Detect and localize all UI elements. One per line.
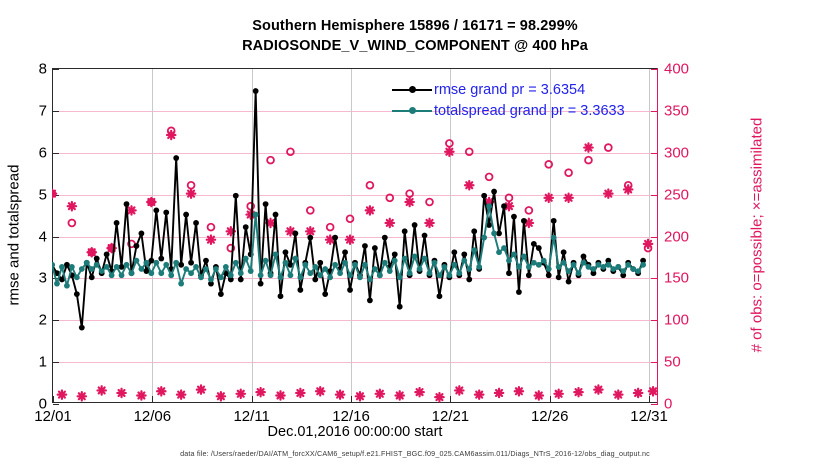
series-marker [79, 266, 85, 272]
series-marker [114, 220, 120, 226]
series-marker [625, 262, 631, 268]
series-marker [466, 266, 472, 272]
obs-marker-assimilated [465, 181, 473, 189]
series-marker [258, 272, 264, 278]
series-marker [273, 251, 279, 257]
series-marker [188, 270, 194, 276]
series-marker [188, 260, 194, 266]
series-marker [516, 289, 522, 295]
obs-marker-assimilated [117, 389, 125, 397]
series-marker [491, 189, 497, 195]
series-marker [531, 260, 537, 266]
obs-marker-assimilated [78, 392, 86, 400]
series-marker [342, 249, 348, 255]
series-marker [253, 212, 259, 218]
series-marker [422, 256, 428, 262]
series-marker [551, 218, 557, 224]
obs-marker-possible [208, 224, 215, 231]
series-marker [461, 258, 467, 264]
obs-marker-assimilated [217, 392, 225, 400]
obs-marker-assimilated [554, 390, 562, 398]
series-marker [288, 272, 294, 278]
series-marker [615, 264, 621, 270]
series-marker [446, 272, 452, 278]
series-marker [153, 260, 159, 266]
obs-marker-assimilated [435, 393, 443, 401]
obs-marker-possible [585, 157, 592, 164]
series-marker [347, 287, 353, 293]
obs-marker-assimilated [346, 235, 354, 243]
series-line [52, 91, 643, 328]
series-marker [352, 262, 358, 268]
series-marker [556, 274, 562, 280]
obs-marker-assimilated [574, 388, 582, 396]
obs-marker-assimilated [495, 389, 503, 397]
obs-marker-assimilated [366, 206, 374, 214]
series-marker [134, 258, 140, 264]
obs-marker-assimilated [356, 392, 364, 400]
series-marker [312, 277, 318, 283]
obs-marker-assimilated [584, 143, 592, 151]
series-marker [501, 245, 507, 251]
series-marker [283, 260, 289, 266]
series-marker [402, 256, 408, 262]
series-marker [387, 268, 393, 274]
series-marker [362, 243, 368, 249]
series-marker [640, 262, 646, 268]
series-marker [372, 266, 378, 272]
series-marker [551, 235, 557, 241]
obs-marker-possible [406, 190, 413, 197]
series-marker [278, 274, 284, 280]
series-marker [561, 260, 567, 266]
series-marker [516, 264, 522, 270]
obs-marker-assimilated [237, 390, 245, 398]
series-marker [322, 291, 328, 297]
series-marker [243, 224, 249, 230]
series-marker [218, 274, 224, 280]
series-marker [178, 262, 184, 268]
series-marker [99, 268, 105, 274]
series-marker [392, 258, 398, 264]
series-marker [283, 249, 289, 255]
series-marker [451, 262, 457, 268]
series-marker [139, 231, 145, 237]
series-marker [268, 272, 274, 278]
series-marker [357, 274, 363, 280]
obs-marker-possible [188, 182, 195, 189]
series-marker [143, 260, 149, 266]
series-marker [377, 272, 383, 278]
series-marker [407, 270, 413, 276]
series-marker [312, 264, 318, 270]
series-marker [531, 241, 537, 247]
series-marker [243, 256, 249, 262]
series-marker [124, 201, 130, 207]
series-marker [54, 281, 60, 287]
series-marker [486, 203, 492, 209]
series-marker [506, 258, 512, 264]
series-marker [49, 262, 55, 268]
series-marker [456, 270, 462, 276]
series-marker [193, 264, 199, 270]
obs-marker-possible [386, 194, 393, 201]
obs-marker-assimilated [405, 198, 413, 206]
obs-marker-assimilated [564, 194, 572, 202]
obs-marker-possible [307, 207, 314, 214]
obs-marker-assimilated [187, 189, 195, 197]
series-group [48, 88, 657, 401]
obs-marker-possible [545, 161, 552, 168]
series-marker [292, 256, 298, 262]
series-marker [561, 249, 567, 255]
legend-item-rmse[interactable]: rmse grand pr = 3.6354 [392, 79, 625, 100]
series-marker [556, 264, 562, 270]
y-axis-left-title: rmse and totalspread [6, 165, 23, 306]
series-marker [422, 233, 428, 239]
series-marker [218, 291, 224, 297]
obs-marker-possible [506, 194, 513, 201]
series-marker [173, 155, 179, 161]
obs-marker-assimilated [634, 389, 642, 397]
series-marker [367, 277, 373, 283]
series-marker [233, 193, 239, 199]
obs-marker-assimilated [276, 391, 284, 399]
series-marker [481, 235, 487, 241]
series-marker [392, 251, 398, 257]
series-marker [521, 218, 527, 224]
series-marker [536, 262, 542, 268]
obs-marker-assimilated [177, 390, 185, 398]
obs-marker-possible [267, 157, 274, 164]
series-marker [620, 268, 626, 274]
series-marker [302, 262, 308, 268]
series-marker [223, 264, 229, 270]
obs-marker-assimilated [48, 189, 56, 197]
obs-marker-assimilated [127, 206, 135, 214]
series-marker [481, 193, 487, 199]
obs-marker-possible [525, 207, 532, 214]
series-marker [362, 262, 368, 268]
y-axis-right-title: # of obs: o=possible; ×=assimilated [749, 118, 766, 353]
series-marker [402, 228, 408, 234]
series-marker [59, 264, 65, 270]
series-marker [208, 277, 214, 283]
series-marker [253, 88, 259, 94]
series-marker [576, 270, 582, 276]
series-marker [427, 270, 433, 276]
series-marker [432, 260, 438, 266]
figure-canvas: Southern Hemisphere 15896 / 16171 = 98.2… [0, 0, 830, 470]
series-marker [168, 272, 174, 278]
obs-marker-possible [466, 148, 473, 155]
series-marker [327, 274, 333, 280]
series-marker [501, 203, 507, 209]
series-marker [437, 272, 443, 278]
series-marker [397, 304, 403, 310]
chart-legend: rmse grand pr = 3.6354 totalspread grand… [388, 77, 629, 124]
series-marker [307, 270, 313, 276]
series-marker [292, 231, 298, 237]
series-marker [228, 272, 234, 278]
series-marker [571, 262, 577, 268]
legend-item-totalspread[interactable]: totalspread grand pr = 3.3633 [392, 100, 625, 121]
series-marker [581, 254, 587, 260]
series-marker [163, 262, 169, 268]
series-marker [193, 220, 199, 226]
series-marker [566, 279, 572, 285]
obs-marker-assimilated [515, 387, 523, 395]
obs-marker-assimilated [197, 385, 205, 393]
series-marker [566, 268, 572, 274]
obs-marker-assimilated [147, 198, 155, 206]
series-marker [586, 264, 592, 270]
series-marker [263, 201, 269, 207]
series-marker [541, 258, 547, 264]
series-marker [630, 266, 636, 272]
obs-marker-assimilated [649, 387, 657, 395]
series-marker [476, 264, 482, 270]
series-marker [148, 270, 154, 276]
series-marker [178, 281, 184, 287]
obs-marker-assimilated [306, 227, 314, 235]
series-marker [437, 293, 443, 299]
obs-marker-assimilated [445, 148, 453, 156]
series-marker [322, 266, 328, 272]
series-marker [546, 272, 552, 278]
series-marker [581, 260, 587, 266]
legend-label-rmse: rmse grand pr = 3.6354 [434, 82, 585, 98]
series-marker [466, 277, 472, 283]
series-marker [367, 298, 373, 304]
series-marker [173, 260, 179, 266]
series-marker [600, 264, 606, 270]
obs-marker-possible [347, 215, 354, 222]
obs-marker-assimilated [376, 390, 384, 398]
series-marker [526, 272, 532, 278]
series-marker [595, 262, 601, 268]
series-marker [382, 260, 388, 266]
series-marker [332, 235, 338, 241]
series-marker [84, 260, 90, 266]
series-marker [496, 249, 502, 255]
series-marker [273, 212, 279, 218]
series-marker [412, 254, 418, 260]
data-file-footer: data file: /Users/raeder/DAI/ATM_forcXX/… [0, 449, 830, 458]
obs-marker-assimilated [58, 390, 66, 398]
series-marker [521, 254, 527, 260]
series-marker [213, 266, 219, 272]
obs-marker-assimilated [167, 131, 175, 139]
series-marker [69, 264, 75, 270]
obs-marker-assimilated [604, 189, 612, 197]
obs-marker-possible [446, 140, 453, 147]
series-marker [511, 251, 517, 257]
series-marker [94, 256, 100, 262]
series-marker [233, 260, 239, 266]
obs-marker-assimilated [425, 219, 433, 227]
series-marker [74, 291, 80, 297]
obs-marker-possible [287, 148, 294, 155]
series-marker [109, 272, 115, 278]
series-marker [183, 212, 189, 218]
obs-marker-assimilated [415, 388, 423, 396]
obs-marker-assimilated [88, 248, 96, 256]
series-marker [506, 270, 512, 276]
obs-marker-possible [367, 182, 374, 189]
series-marker [337, 270, 343, 276]
series-marker [153, 207, 159, 213]
series-marker [342, 260, 348, 266]
obs-marker-assimilated [644, 240, 652, 248]
series-marker [610, 266, 616, 272]
series-marker [382, 235, 388, 241]
obs-marker-assimilated [336, 390, 344, 398]
series-marker [536, 245, 542, 251]
legend-marker-totalspread [392, 105, 432, 117]
obs-marker-assimilated [256, 388, 264, 396]
series-marker [89, 274, 95, 280]
obs-marker-assimilated [207, 235, 215, 243]
series-marker [248, 268, 254, 274]
series-marker [158, 270, 164, 276]
series-marker [332, 262, 338, 268]
series-marker [461, 251, 467, 257]
series-marker [139, 266, 145, 272]
series-marker [451, 249, 457, 255]
series-marker [89, 266, 95, 272]
series-marker [591, 266, 597, 272]
series-marker [203, 266, 209, 272]
obs-marker-assimilated [396, 391, 404, 399]
series-marker [94, 262, 100, 268]
obs-marker-possible [605, 144, 612, 151]
series-marker [158, 256, 164, 262]
series-marker [79, 325, 85, 331]
series-marker [258, 281, 264, 287]
series-marker [347, 272, 353, 278]
series-marker [238, 270, 244, 276]
series-marker [238, 277, 244, 283]
obs-marker-assimilated [386, 219, 394, 227]
series-marker [471, 228, 477, 234]
series-marker [546, 266, 552, 272]
obs-marker-assimilated [157, 387, 165, 395]
series-marker [104, 251, 110, 257]
series-marker [148, 258, 154, 264]
series-marker [496, 231, 502, 237]
series-marker [526, 264, 532, 270]
obs-marker-possible [486, 173, 493, 180]
legend-marker-rmse [392, 84, 432, 96]
series-marker [114, 264, 120, 270]
series-marker [317, 272, 323, 278]
obs-marker-assimilated [296, 389, 304, 397]
series-marker [635, 268, 641, 274]
obs-marker-assimilated [624, 185, 632, 193]
obs-marker-possible [68, 220, 75, 227]
legend-label-totalspread: totalspread grand pr = 3.3633 [434, 103, 625, 119]
series-marker [64, 283, 70, 289]
series-marker [198, 274, 204, 280]
series-marker [104, 264, 110, 270]
obs-marker-possible [565, 169, 572, 176]
series-marker [263, 258, 269, 264]
plot-series-layer [0, 0, 830, 470]
series-marker [442, 264, 448, 270]
obs-marker-assimilated [475, 390, 483, 398]
series-marker [297, 274, 303, 280]
series-marker [511, 214, 517, 220]
obs-marker-possible [327, 224, 334, 231]
series-marker [605, 262, 611, 268]
series-marker [412, 222, 418, 228]
obs-marker-assimilated [594, 385, 602, 393]
x-axis-title: Dec.01,2016 00:00:00 start [52, 424, 658, 440]
series-marker [417, 266, 423, 272]
obs-marker-assimilated [545, 194, 553, 202]
obs-marker-assimilated [614, 390, 622, 398]
series-marker [129, 270, 135, 276]
series-marker [471, 247, 477, 253]
series-marker [183, 266, 189, 272]
series-marker [64, 262, 70, 268]
series-marker [203, 258, 209, 264]
series-marker [278, 293, 284, 299]
series-marker [119, 272, 125, 278]
obs-marker-assimilated [316, 387, 324, 395]
series-marker [124, 262, 130, 268]
obs-marker-assimilated [455, 386, 463, 394]
series-marker [307, 235, 313, 241]
series-marker [134, 243, 140, 249]
obs-marker-possible [426, 199, 433, 206]
series-marker [74, 274, 80, 280]
obs-marker-assimilated [68, 202, 76, 210]
series-marker [297, 287, 303, 293]
series-marker [317, 260, 323, 266]
obs-marker-assimilated [137, 391, 145, 399]
series-marker [163, 210, 169, 216]
obs-marker-assimilated [535, 391, 543, 399]
series-marker [372, 245, 378, 251]
series-marker [491, 231, 497, 237]
series-marker [397, 274, 403, 280]
obs-marker-assimilated [97, 386, 105, 394]
